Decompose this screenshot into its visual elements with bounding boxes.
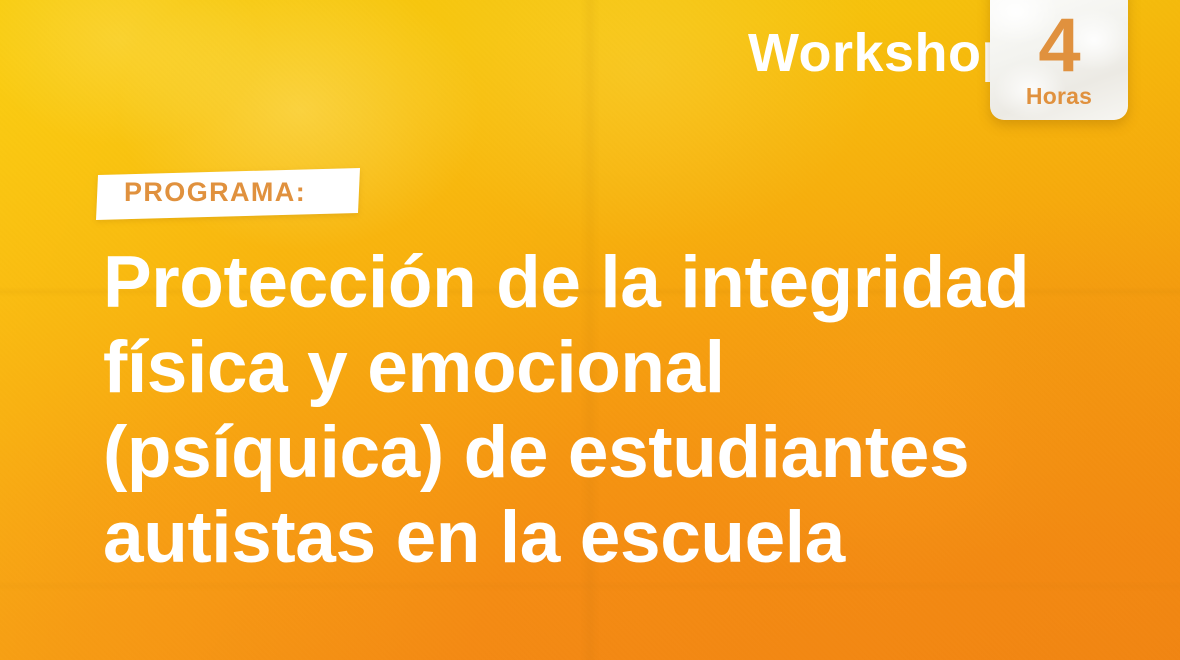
workshop-banner: Workshop 4 Horas PROGRAMA: Protección de… [0,0,1180,660]
headline-line-2: física y emocional [103,325,1143,410]
workshop-label: Workshop [748,26,1015,80]
programa-label: PROGRAMA: [124,179,306,206]
headline-line-4: autistas en la escuela [103,495,1143,580]
headline: Protección de la integridad física y emo… [103,240,1143,580]
hours-badge-unit: Horas [1026,85,1092,108]
headline-line-1: Protección de la integridad [103,240,1143,325]
hours-badge: 4 Horas [990,0,1128,120]
hours-badge-number: 4 [1038,11,1079,81]
programa-ribbon: PROGRAMA: [96,168,362,220]
headline-line-3: (psíquica) de estudiantes [103,410,1143,495]
